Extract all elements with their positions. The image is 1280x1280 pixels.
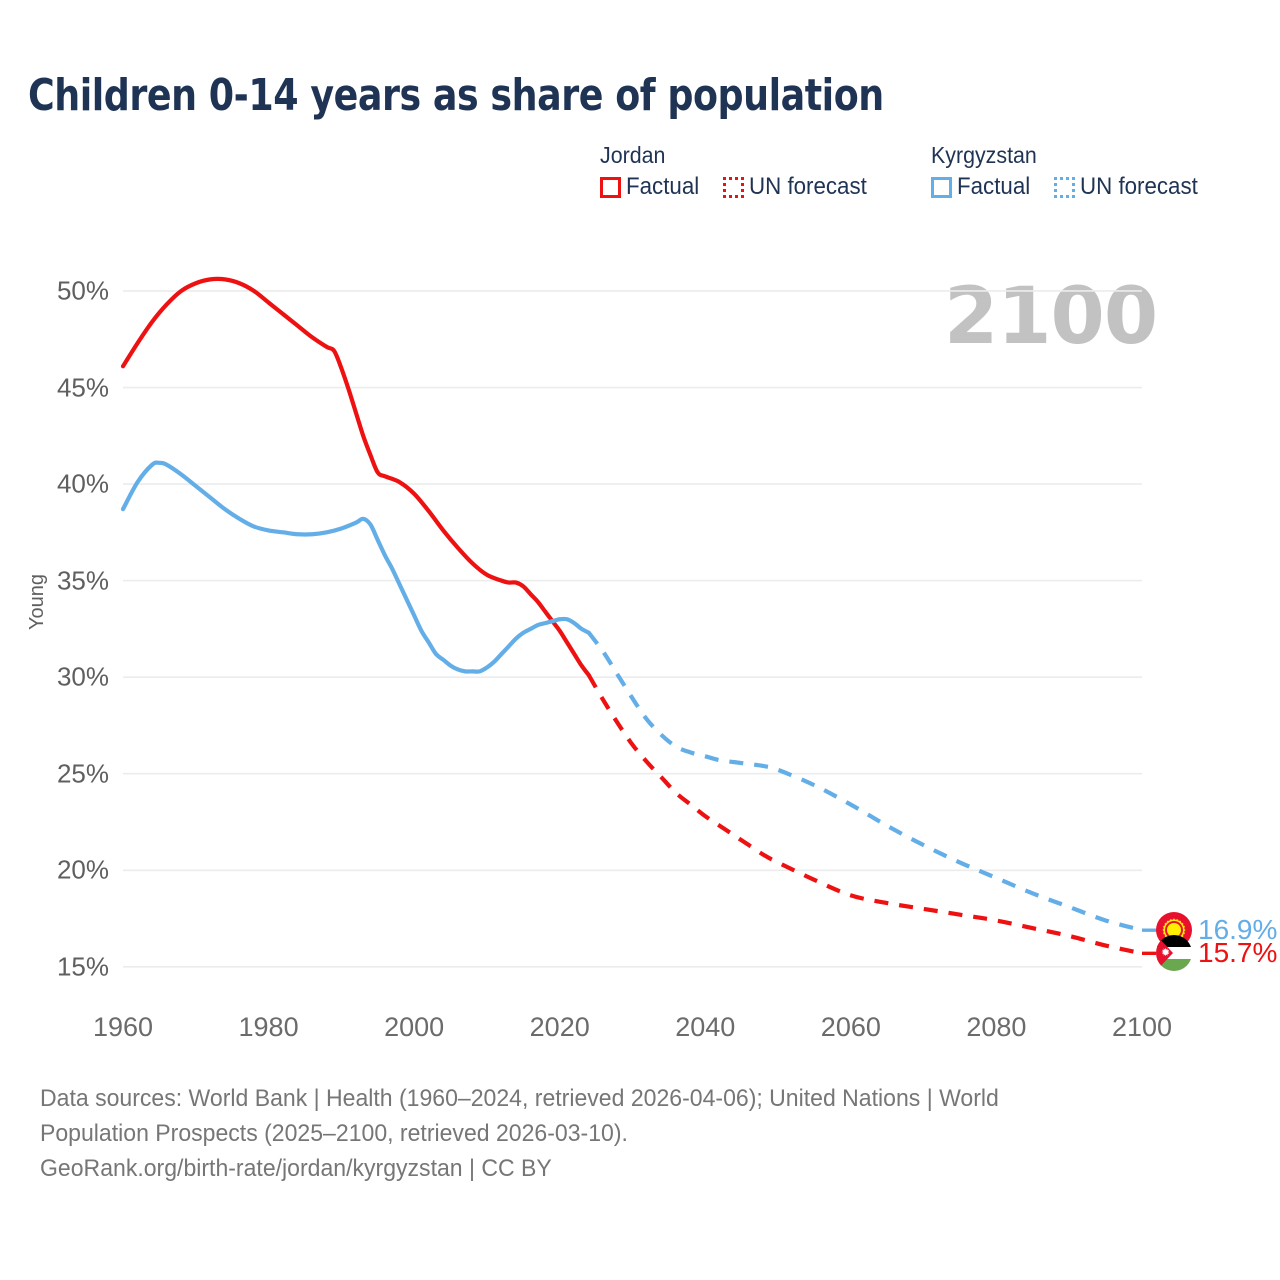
- y-tick-label: 25%: [19, 758, 109, 789]
- x-tick-label: 2040: [645, 1012, 765, 1043]
- x-tick-label: 2100: [1082, 1012, 1202, 1043]
- chart-canvas: [0, 0, 1280, 1060]
- x-tick-label: 1980: [209, 1012, 329, 1043]
- x-tick-label: 2000: [354, 1012, 474, 1043]
- star-icon: ✹: [1161, 949, 1170, 958]
- plot-area: 2100 15%20%25%30%35%40%45%50% 1960198020…: [0, 0, 1280, 1060]
- y-tick-label: 20%: [19, 855, 109, 886]
- footer-notes: Data sources: World Bank | Health (1960–…: [40, 1082, 1220, 1186]
- y-tick-label: 40%: [19, 469, 109, 500]
- end-value-label-jordan: 15.7%: [1198, 937, 1277, 969]
- x-tick-label: 1960: [63, 1012, 183, 1043]
- y-tick-label: 50%: [19, 275, 109, 306]
- footer-line: Population Prospects (2025–2100, retriev…: [40, 1117, 1173, 1152]
- y-tick-label: 30%: [19, 662, 109, 693]
- y-tick-label: 45%: [19, 372, 109, 403]
- footer-line[interactable]: GeoRank.org/birth-rate/jordan/kyrgyzstan…: [40, 1152, 1173, 1187]
- x-tick-label: 2020: [500, 1012, 620, 1043]
- chart-page: Children 0-14 years as share of populati…: [0, 0, 1280, 1280]
- x-tick-label: 2080: [936, 1012, 1056, 1043]
- footer-line: Data sources: World Bank | Health (1960–…: [40, 1082, 1173, 1117]
- y-axis-title: Young: [26, 574, 49, 630]
- y-tick-label: 15%: [19, 951, 109, 982]
- jo-flag-icon: ✹: [1156, 935, 1192, 971]
- x-tick-label: 2060: [791, 1012, 911, 1043]
